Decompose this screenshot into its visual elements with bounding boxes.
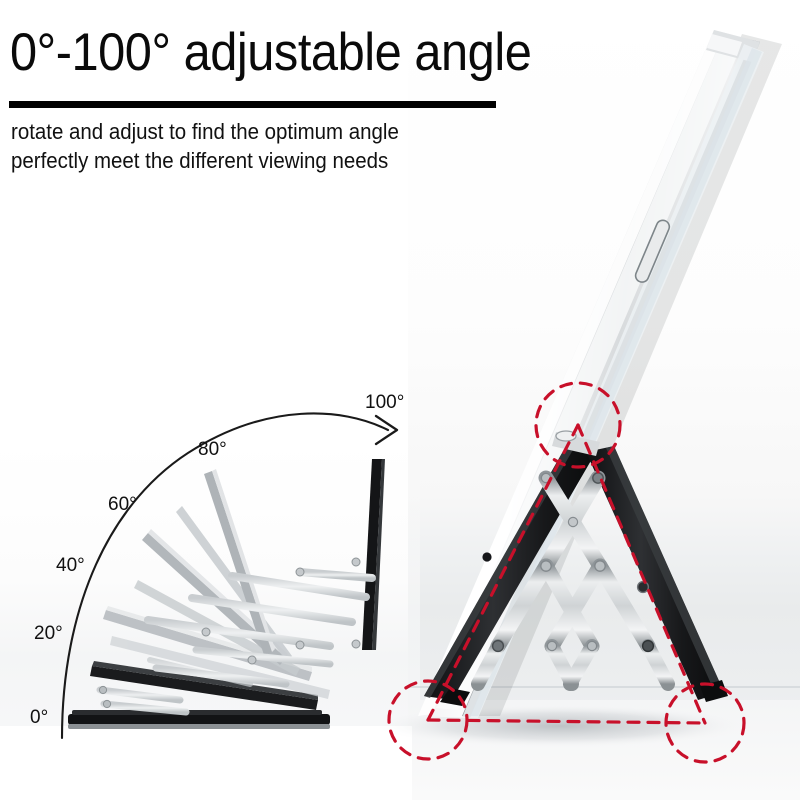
product-feature-image: 0°-100° adjustable angle rotate and adju… <box>0 0 800 800</box>
angle-label-60: 60° <box>108 494 137 516</box>
angle-label-20: 20° <box>34 623 63 645</box>
desk-surface <box>408 700 800 800</box>
background-right-photo <box>408 0 800 800</box>
subtitle-line-1: rotate and adjust to find the optimum an… <box>11 121 399 143</box>
background-left-photo <box>0 440 420 740</box>
angle-label-100: 100° <box>365 392 404 414</box>
page-title: 0°-100° adjustable angle <box>10 26 531 79</box>
left-floor-fill <box>0 726 412 800</box>
subtitle-line-2: perfectly meet the different viewing nee… <box>11 150 388 172</box>
desk-edge-line <box>408 686 800 688</box>
angle-label-80: 80° <box>198 439 227 461</box>
title-divider <box>9 101 496 108</box>
angle-label-40: 40° <box>56 555 85 577</box>
angle-label-0: 0° <box>30 707 48 729</box>
